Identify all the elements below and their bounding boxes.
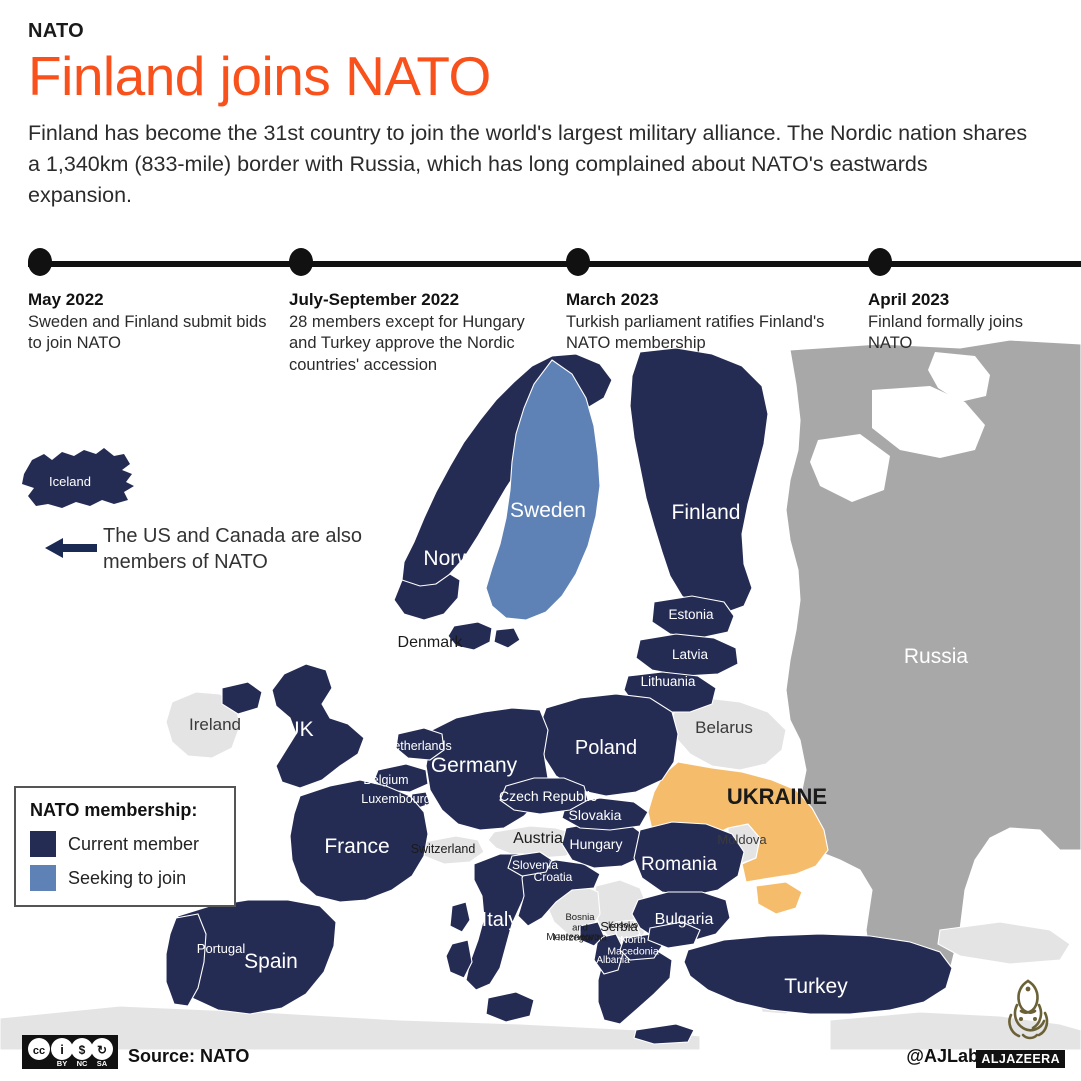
map-canvas: .c-nato { fill: #252c54; stroke: #ffffff… — [0, 330, 1081, 1050]
legend-swatch-seeking-to-join — [30, 865, 56, 891]
svg-text:SA: SA — [97, 1059, 108, 1068]
source-label: Source: NATO — [128, 1046, 249, 1067]
timeline-description: 28 members except for Hungary and Turkey… — [289, 312, 539, 377]
timeline-item-2: July-September 2022 28 members except fo… — [289, 248, 539, 377]
timeline-description: Turkish parliament ratifies Finland's NA… — [566, 312, 826, 356]
svg-text:cc: cc — [33, 1045, 45, 1057]
svg-text:NC: NC — [77, 1059, 88, 1068]
timeline-item-3: March 2023 Turkish parliament ratifies F… — [566, 248, 826, 355]
timeline-dot — [28, 248, 52, 276]
aljazeera-calligraphy-logo — [997, 975, 1059, 1043]
infographic-root: NATO Finland joins NATO Finland has beco… — [0, 0, 1081, 1081]
standfirst-text: Finland has become the 31st country to j… — [28, 118, 1028, 212]
legend-title: NATO membership: — [30, 800, 220, 821]
us-canada-annotation: The US and Canada are also members of NA… — [45, 523, 365, 583]
timeline: May 2022 Sweden and Finland submit bids … — [0, 248, 1081, 368]
svg-text:i: i — [60, 1042, 64, 1057]
timeline-dot — [289, 248, 313, 276]
timeline-description: Sweden and Finland submit bids to join N… — [28, 312, 278, 356]
kicker-label: NATO — [28, 20, 1038, 42]
legend-swatch-current-member — [30, 831, 56, 857]
arrow-left-icon — [45, 535, 97, 561]
page-title: Finland joins NATO — [28, 46, 1038, 108]
timeline-dot — [868, 248, 892, 276]
legend-label-seeking-to-join: Seeking to join — [68, 869, 186, 887]
legend-item-seeking-to-join: Seeking to join — [30, 865, 220, 891]
svg-text:BY: BY — [57, 1059, 67, 1068]
timeline-date: May 2022 — [28, 290, 278, 310]
footer: cc i $ ↻ BY NC SA Source: NATO @AJLabs A… — [0, 1025, 1081, 1081]
aljazeera-wordmark: ALJAZEERA — [976, 1050, 1065, 1069]
iceland-inset: Iceland — [18, 440, 148, 520]
timeline-date: March 2023 — [566, 290, 826, 310]
timeline-date: July-September 2022 — [289, 290, 539, 310]
map-legend: NATO membership: Current member Seeking … — [14, 786, 236, 907]
timeline-item-4: April 2023 Finland formally joins NATO — [868, 248, 1068, 355]
header: NATO Finland joins NATO Finland has beco… — [28, 20, 1038, 212]
creative-commons-by-nc-sa-icon: cc i $ ↻ BY NC SA — [22, 1035, 118, 1069]
europe-map: .c-nato { fill: #252c54; stroke: #ffffff… — [0, 330, 1081, 1050]
timeline-date: April 2023 — [868, 290, 1068, 310]
timeline-description: Finland formally joins NATO — [868, 312, 1068, 356]
iceland-inset-label: Iceland — [49, 474, 91, 489]
timeline-item-1: May 2022 Sweden and Finland submit bids … — [28, 248, 278, 355]
legend-label-current-member: Current member — [68, 835, 199, 853]
timeline-dot — [566, 248, 590, 276]
legend-item-current-member: Current member — [30, 831, 220, 857]
annotation-text: The US and Canada are also members of NA… — [103, 523, 373, 576]
svg-text:↻: ↻ — [97, 1043, 107, 1057]
svg-text:$: $ — [79, 1043, 86, 1057]
country-slovenia — [508, 852, 552, 876]
